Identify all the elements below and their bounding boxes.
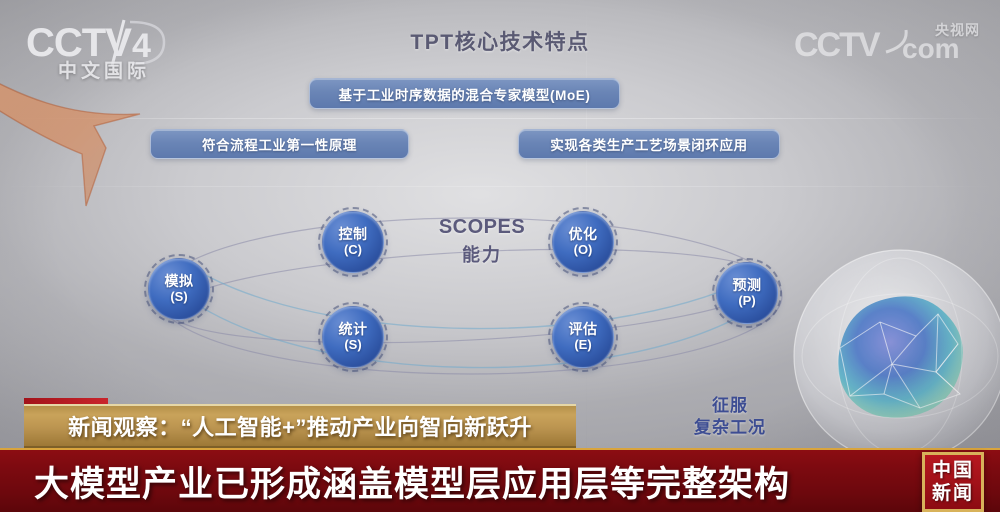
slide-side-label: 征服 复杂工况	[666, 395, 794, 439]
node-label-en: (O)	[574, 243, 593, 257]
scopes-hub: SCOPES 能力	[412, 216, 552, 267]
node-label-en: (S)	[170, 290, 187, 304]
node-simulate[interactable]: 模拟 (S)	[148, 258, 210, 320]
program-badge-line2: 新闻	[932, 482, 974, 505]
svg-text:CCTV: CCTV	[794, 26, 881, 64]
hub-title-en: SCOPES	[412, 216, 552, 239]
side-label-line1: 征服	[712, 396, 748, 415]
channel-name: 中文国际	[24, 56, 184, 83]
broadcast-screen: TPT核心技术特点 基于工业时序数据的混合专家模型(MoE) 符合流程工业第一性…	[0, 0, 1000, 512]
lower-third-headline-text: 大模型产业已形成涵盖模型层应用层等完整架构	[0, 456, 790, 507]
node-label-cn: 评估	[569, 322, 598, 337]
lower-third-subtitle-text: 新闻观察：“人工智能+”推动产业向智向新跃升	[68, 410, 532, 442]
lower-third-subtitle-bar: 新闻观察：“人工智能+”推动产业向智向新跃升	[24, 404, 576, 448]
watermark-cn: 央视网	[935, 20, 980, 40]
node-optimize[interactable]: 优化 (O)	[552, 211, 614, 273]
node-control[interactable]: 控制 (C)	[322, 211, 384, 273]
node-statistics[interactable]: 统计 (S)	[322, 306, 384, 368]
node-label-cn: 预测	[733, 278, 762, 293]
node-evaluate[interactable]: 评估 (E)	[552, 306, 614, 368]
program-badge-line1: 中国	[932, 459, 974, 482]
node-label-cn: 优化	[569, 227, 598, 242]
node-label-cn: 模拟	[165, 274, 194, 289]
node-label-en: (S)	[344, 338, 361, 352]
program-badge: 中国 新闻	[922, 452, 984, 512]
pill-first-principles: 符合流程工业第一性原理	[150, 129, 409, 159]
pill-closed-loop: 实现各类生产工艺场景闭环应用	[518, 129, 780, 159]
node-label-en: (C)	[344, 243, 362, 257]
node-label-cn: 控制	[339, 227, 368, 242]
lower-third-headline-bar: 大模型产业已形成涵盖模型层应用层等完整架构	[0, 448, 1000, 512]
pill-moe-model: 基于工业时序数据的混合专家模型(MoE)	[309, 78, 620, 109]
node-label-en: (P)	[738, 294, 755, 308]
node-predict[interactable]: 预测 (P)	[716, 262, 778, 324]
node-label-cn: 统计	[339, 322, 368, 337]
side-label-line2: 复杂工况	[666, 417, 794, 439]
node-label-en: (E)	[574, 338, 591, 352]
hub-title-cn: 能力	[412, 241, 552, 267]
